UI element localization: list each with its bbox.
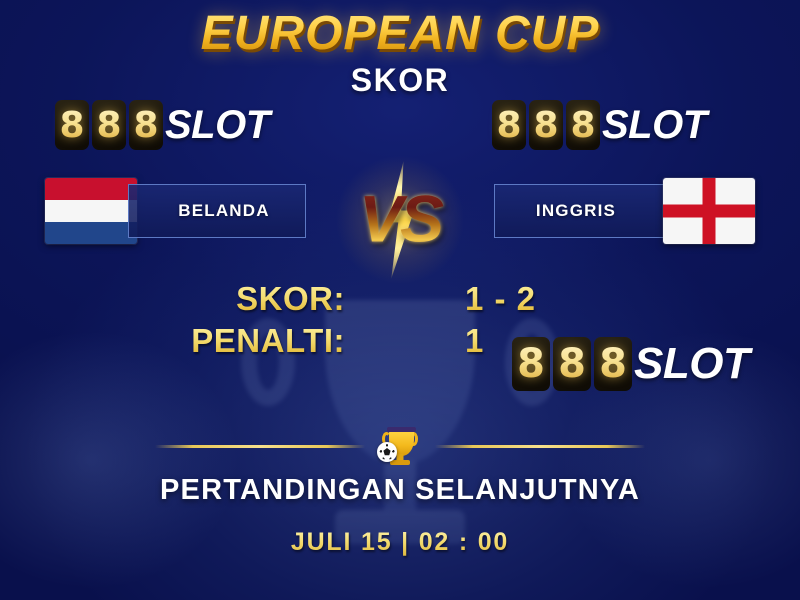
netherlands-flag-icon (45, 178, 137, 244)
brand-wordmark: SLOT (165, 103, 270, 148)
brand-digit-tile: 8 (594, 337, 632, 391)
home-team-name: BELANDA (178, 201, 270, 221)
brand-digit-tile: 8 (492, 100, 526, 150)
soccer-ball-icon (377, 442, 397, 462)
brand-wordmark: SLOT (602, 103, 707, 148)
divider-line-right (435, 445, 645, 448)
penalty-label: PENALTI: (0, 322, 345, 360)
brand-logo-bottom[interactable]: 8 8 8 SLOT (512, 337, 749, 391)
scoreboard-poster: EUROPEAN CUP SKOR 8 8 8 SLOT 8 8 8 SLOT … (0, 0, 800, 600)
divider-line-left (155, 445, 365, 448)
brand-digit-tile: 8 (512, 337, 550, 391)
score-row: SKOR: 1 - 2 (0, 280, 800, 322)
score-label: SKOR: (0, 280, 345, 318)
next-match-time: JULI 15 | 02 : 00 (0, 528, 800, 557)
page-subtitle: SKOR (0, 62, 800, 99)
home-team-box[interactable]: BELANDA (128, 184, 306, 238)
brand-digits: 8 8 8 (55, 100, 163, 150)
brand-digit-tile: 8 (566, 100, 600, 150)
versus-emblem: VS (330, 160, 470, 280)
brand-digit-tile: 8 (129, 100, 163, 150)
section-divider (0, 427, 800, 467)
brand-logo-left[interactable]: 8 8 8 SLOT (55, 100, 270, 150)
brand-digits: 8 8 8 (492, 100, 600, 150)
trophy-ball-icon (377, 424, 423, 468)
brand-digit-tile: 8 (553, 337, 591, 391)
brand-wordmark: SLOT (634, 339, 749, 389)
next-match-label: PERTANDINGAN SELANJUTNYA (0, 474, 800, 507)
england-flag-icon (663, 178, 755, 244)
away-team-name: INGGRIS (536, 201, 616, 221)
brand-digits: 8 8 8 (512, 337, 632, 391)
away-team-box[interactable]: INGGRIS (494, 184, 672, 238)
page-title: EUROPEAN CUP (0, 6, 800, 61)
brand-logo-right[interactable]: 8 8 8 SLOT (492, 100, 707, 150)
versus-label: VS (330, 180, 470, 256)
brand-digit-tile: 8 (55, 100, 89, 150)
brand-digit-tile: 8 (92, 100, 126, 150)
score-value: 1 - 2 (345, 280, 800, 318)
brand-digit-tile: 8 (529, 100, 563, 150)
